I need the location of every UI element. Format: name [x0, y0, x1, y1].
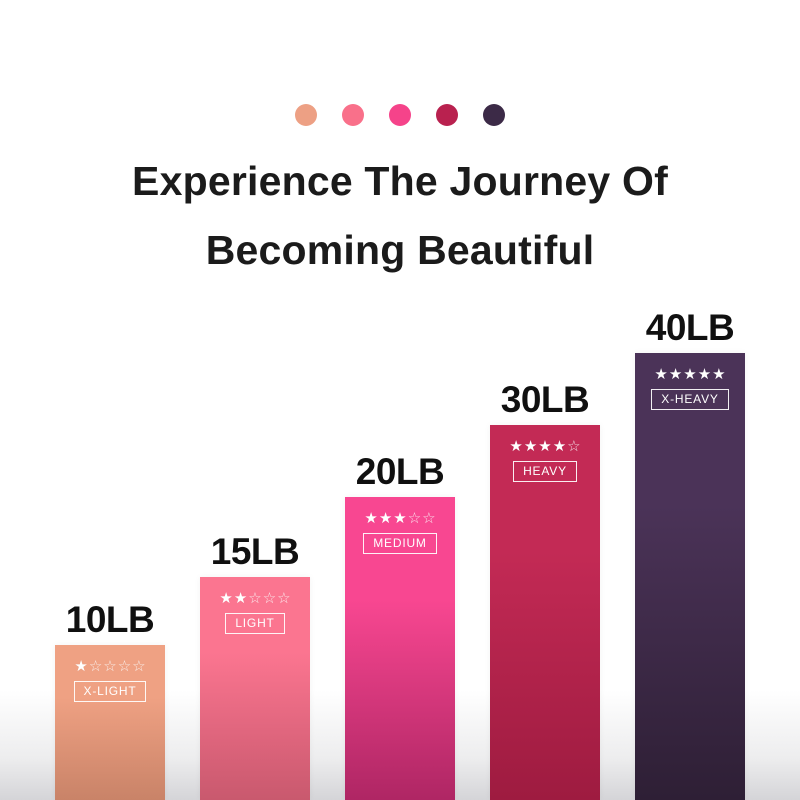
bar-content: ★★★★★X-HEAVY — [635, 353, 745, 410]
star-filled-icon: ★ — [509, 439, 522, 454]
star-empty-icon: ☆ — [103, 659, 116, 674]
rating-stars: ★★★★☆ — [509, 439, 580, 454]
dot-x-light — [295, 104, 317, 126]
star-filled-icon: ★ — [379, 511, 392, 526]
bar-group-x-light: 10LB★☆☆☆☆X-LIGHT — [55, 645, 165, 800]
bar-group-heavy: 30LB★★★★☆HEAVY — [490, 425, 600, 800]
star-filled-icon: ★ — [234, 591, 247, 606]
star-filled-icon: ★ — [538, 439, 551, 454]
bar-group-light: 15LB★★☆☆☆LIGHT — [200, 577, 310, 800]
bar[interactable]: ★★★☆☆MEDIUM — [345, 497, 455, 800]
bar-content: ★★★☆☆MEDIUM — [345, 497, 455, 554]
star-empty-icon: ☆ — [132, 659, 145, 674]
star-filled-icon: ★ — [364, 511, 377, 526]
star-filled-icon: ★ — [654, 367, 667, 382]
bar[interactable]: ★★★★★X-HEAVY — [635, 353, 745, 800]
page-title-line-2: Becoming Beautiful — [0, 216, 800, 285]
star-filled-icon: ★ — [524, 439, 537, 454]
bar-content: ★★★★☆HEAVY — [490, 425, 600, 482]
level-badge: X-LIGHT — [74, 681, 147, 702]
bar-weight-label: 20LB — [356, 451, 444, 493]
star-filled-icon: ★ — [712, 367, 725, 382]
bar-weight-label: 15LB — [211, 531, 299, 573]
rating-stars: ★★★★★ — [654, 367, 725, 382]
dot-x-heavy — [483, 104, 505, 126]
bar-weight-label: 10LB — [66, 599, 154, 641]
rating-stars: ★★☆☆☆ — [219, 591, 290, 606]
star-filled-icon: ★ — [393, 511, 406, 526]
star-empty-icon: ☆ — [567, 439, 580, 454]
bar-weight-label: 40LB — [646, 307, 734, 349]
bar[interactable]: ★★☆☆☆LIGHT — [200, 577, 310, 800]
color-dots-row — [0, 104, 800, 126]
infographic-canvas: Experience The Journey Of Becoming Beaut… — [0, 0, 800, 800]
star-empty-icon: ☆ — [248, 591, 261, 606]
bar-weight-label: 30LB — [501, 379, 589, 421]
dot-medium — [389, 104, 411, 126]
bar-content: ★☆☆☆☆X-LIGHT — [55, 645, 165, 702]
star-filled-icon: ★ — [74, 659, 87, 674]
star-filled-icon: ★ — [219, 591, 232, 606]
star-empty-icon: ☆ — [422, 511, 435, 526]
level-badge: MEDIUM — [363, 533, 436, 554]
dot-heavy — [436, 104, 458, 126]
bar[interactable]: ★★★★☆HEAVY — [490, 425, 600, 800]
star-empty-icon: ☆ — [277, 591, 290, 606]
level-badge: LIGHT — [225, 613, 284, 634]
rating-stars: ★☆☆☆☆ — [74, 659, 145, 674]
bar-group-medium: 20LB★★★☆☆MEDIUM — [345, 497, 455, 800]
page-title-line-1: Experience The Journey Of — [0, 147, 800, 216]
dot-light — [342, 104, 364, 126]
star-empty-icon: ☆ — [408, 511, 421, 526]
rating-stars: ★★★☆☆ — [364, 511, 435, 526]
star-filled-icon: ★ — [553, 439, 566, 454]
bar-group-x-heavy: 40LB★★★★★X-HEAVY — [635, 353, 745, 800]
bar-content: ★★☆☆☆LIGHT — [200, 577, 310, 634]
star-filled-icon: ★ — [698, 367, 711, 382]
star-filled-icon: ★ — [669, 367, 682, 382]
level-badge: HEAVY — [513, 461, 577, 482]
star-empty-icon: ☆ — [118, 659, 131, 674]
star-empty-icon: ☆ — [89, 659, 102, 674]
star-empty-icon: ☆ — [263, 591, 276, 606]
bar[interactable]: ★☆☆☆☆X-LIGHT — [55, 645, 165, 800]
star-filled-icon: ★ — [683, 367, 696, 382]
level-badge: X-HEAVY — [651, 389, 728, 410]
page-title: Experience The Journey Of Becoming Beaut… — [0, 147, 800, 285]
